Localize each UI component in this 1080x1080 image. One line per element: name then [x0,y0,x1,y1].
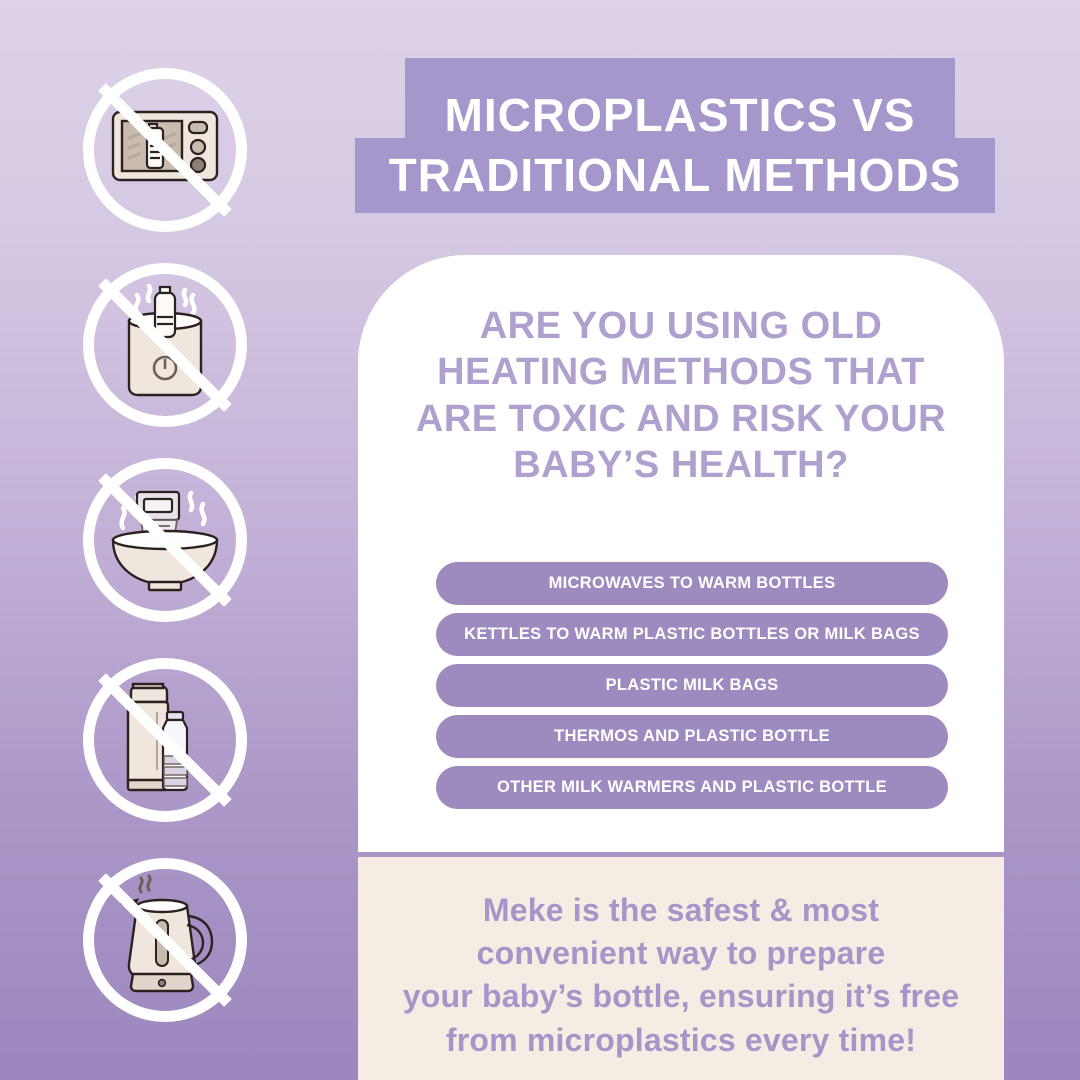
list-item-label: OTHER MILK WARMERS AND PLASTIC BOTTLE [497,778,887,797]
title-line-2: TRADITIONAL METHODS [355,152,995,198]
electric-kettle-prohibited-icon [75,850,255,1030]
footer-line-4: from microplastics every time! [381,1019,981,1062]
list-item-label: PLASTIC MILK BAGS [606,676,779,695]
title-band-top: MICROPLASTICS VS [405,58,955,138]
list-item-label: THERMOS AND PLASTIC BOTTLE [554,727,830,746]
list-item: OTHER MILK WARMERS AND PLASTIC BOTTLE [436,766,948,809]
bottle-warmer-prohibited-icon [75,255,255,435]
footer-line-2: convenient way to prepare [381,932,981,975]
footer-line-1: Meke is the safest & most [381,889,981,932]
hot-water-bowl-milk-bag-prohibited-icon [75,450,255,630]
main-card: ARE YOU USING OLD HEATING METHODS THAT A… [358,255,1004,852]
list-item: MICROWAVES TO WARM BOTTLES [436,562,948,605]
title-band-bottom: TRADITIONAL METHODS [355,138,995,213]
list-item: THERMOS AND PLASTIC BOTTLE [436,715,948,758]
list-item-label: MICROWAVES TO WARM BOTTLES [549,574,836,593]
thermos-and-plastic-bottle-prohibited-icon [75,650,255,830]
title-line-1: MICROPLASTICS VS [405,92,955,138]
footer-line-3: your baby’s bottle, ensuring it’s free [381,975,981,1018]
list-item: KETTLES TO WARM PLASTIC BOTTLES OR MILK … [436,613,948,656]
list-item-label: KETTLES TO WARM PLASTIC BOTTLES OR MILK … [464,625,920,644]
footer-panel: Meke is the safest & most convenient way… [358,857,1004,1080]
list-item: PLASTIC MILK BAGS [436,664,948,707]
bad-methods-list: MICROWAVES TO WARM BOTTLES KETTLES TO WA… [436,562,948,817]
title-block: MICROPLASTICS VS TRADITIONAL METHODS [0,58,1080,213]
card-heading: ARE YOU USING OLD HEATING METHODS THAT A… [401,303,961,488]
footer-message: Meke is the safest & most convenient way… [381,889,981,1062]
